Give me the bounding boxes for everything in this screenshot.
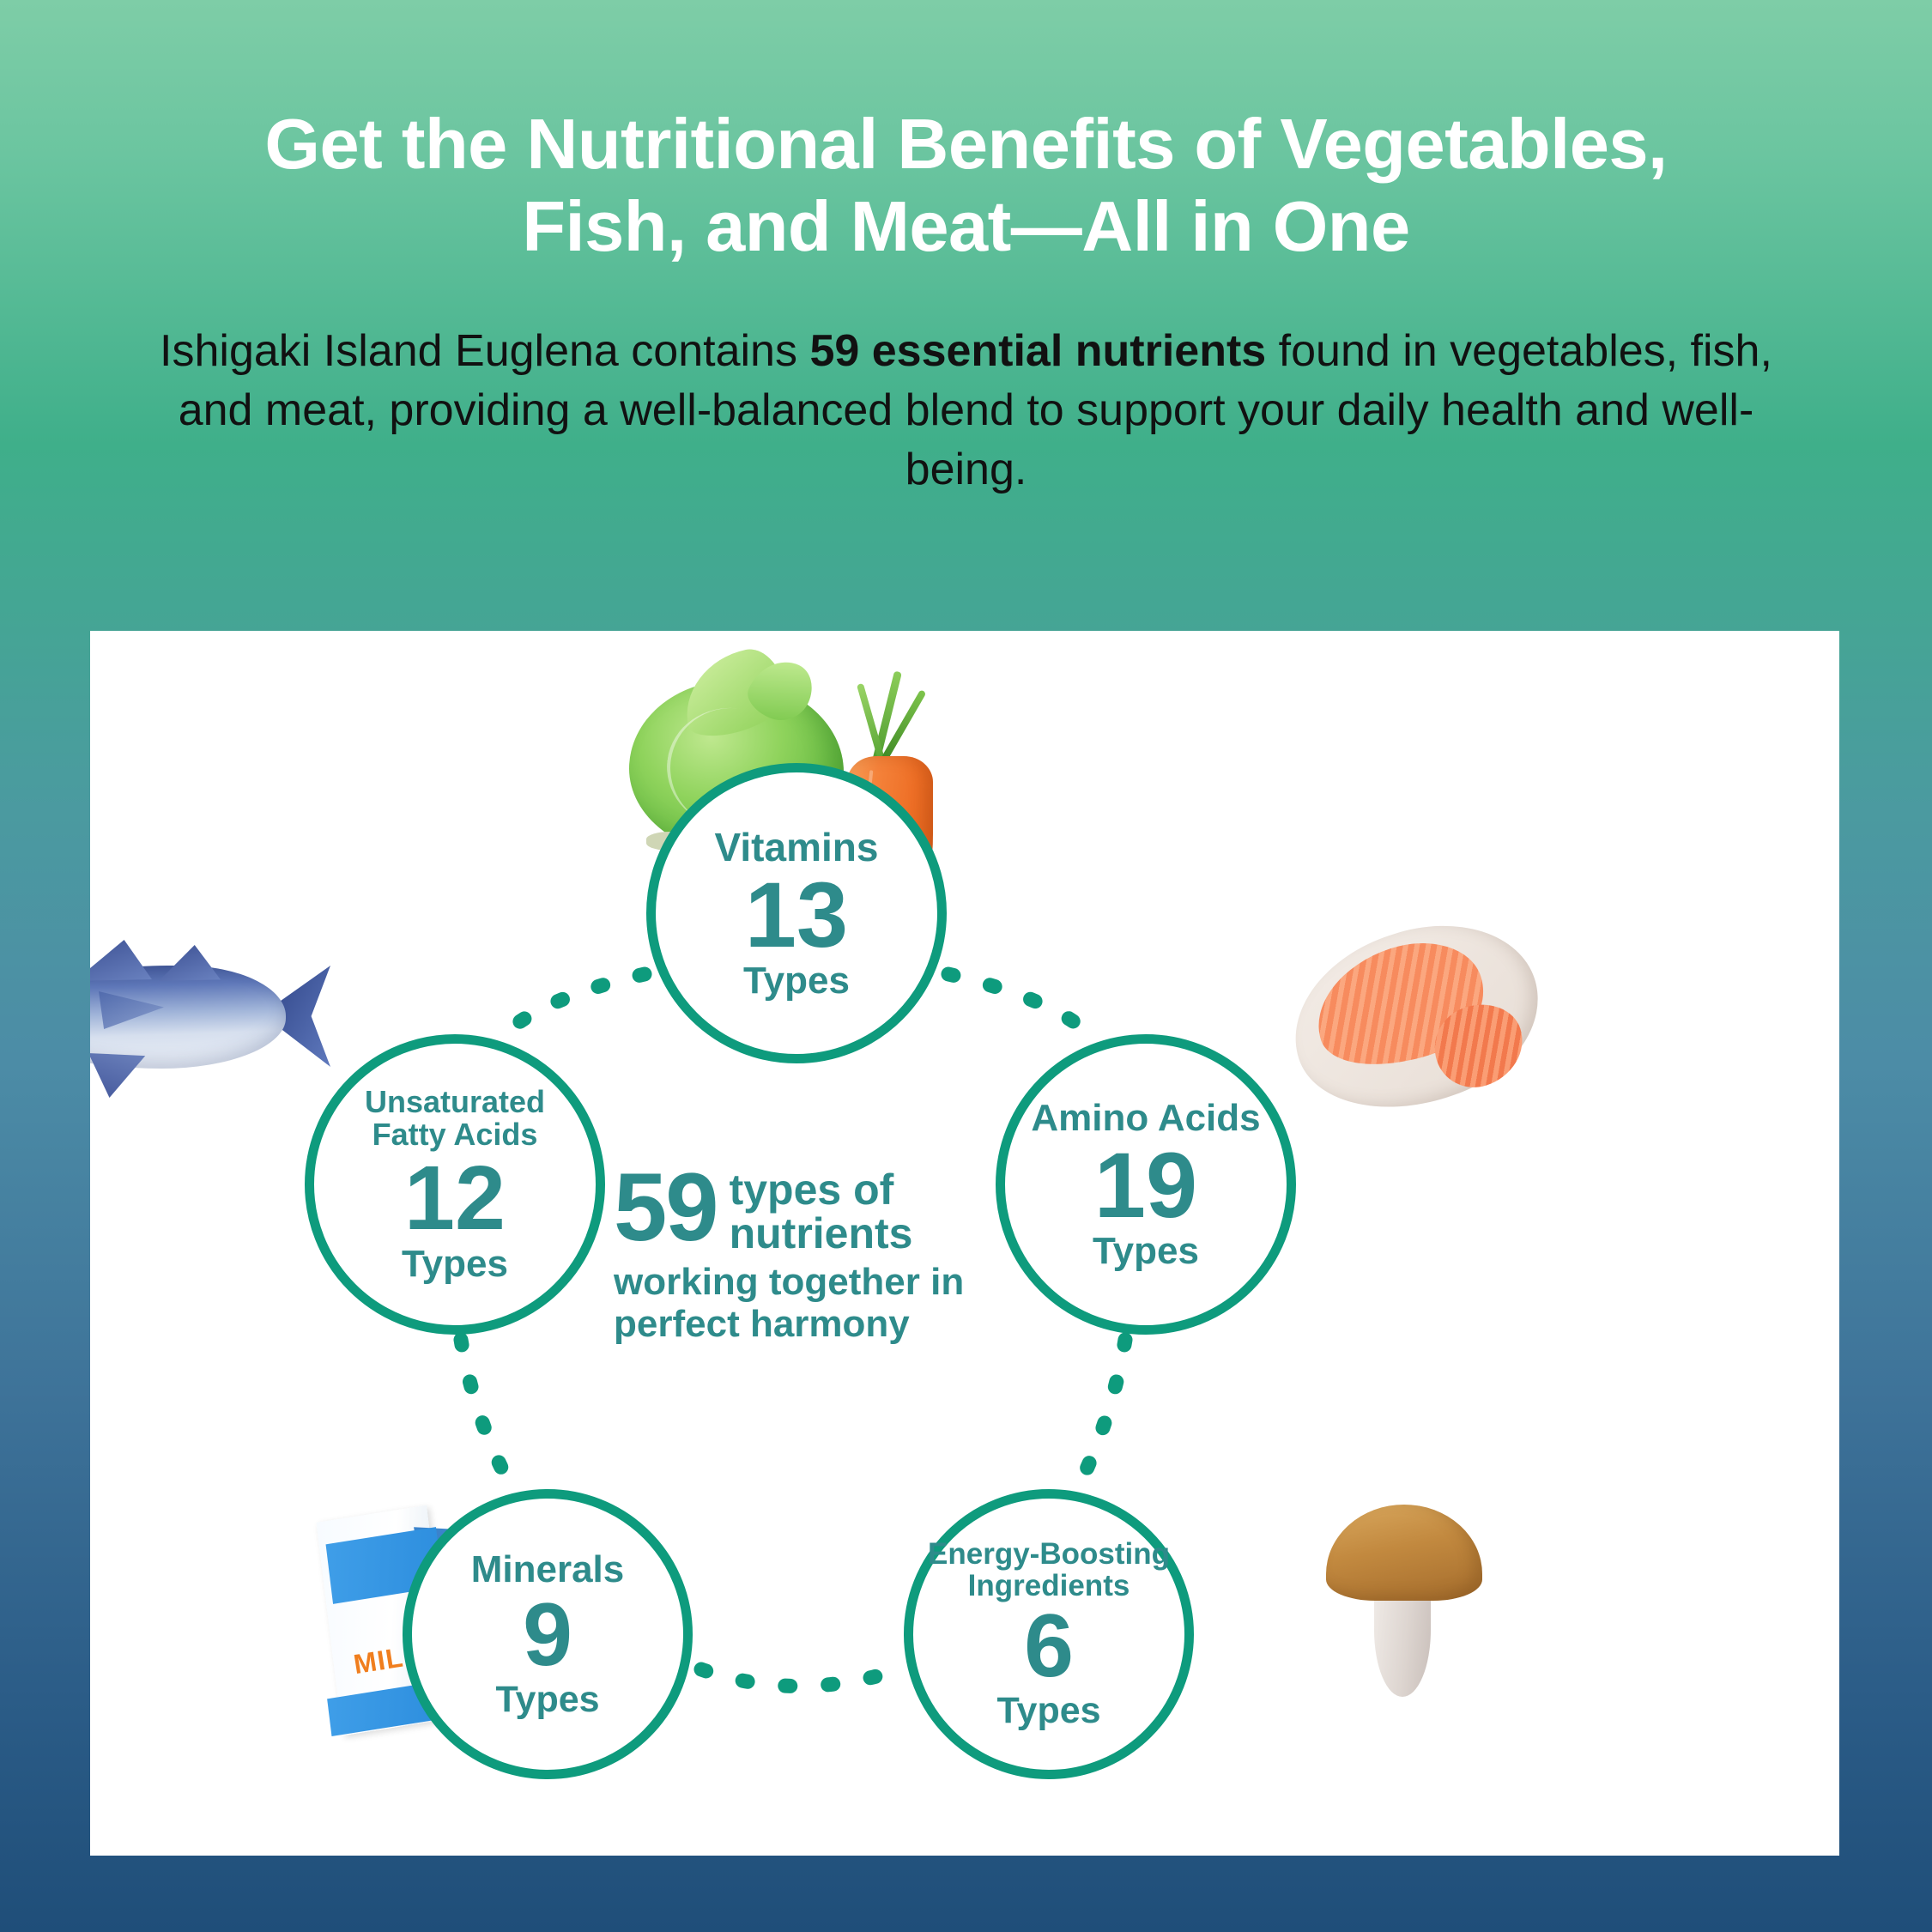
node-minerals-value: 9	[523, 1592, 572, 1680]
node-amino-acids[interactable]: Amino Acids 19 Types	[996, 1034, 1296, 1335]
node-fatty-acids-label-line-1: Unsaturated	[365, 1086, 545, 1118]
connector-minerals-energy	[701, 1669, 895, 1687]
node-vitamins-value: 13	[745, 869, 848, 960]
fish-icon	[90, 931, 348, 1129]
center-summary: 59 types of nutrients working together i…	[614, 1163, 991, 1346]
connector-amino-energy	[1077, 1340, 1125, 1489]
node-energy-value: 6	[1024, 1603, 1074, 1691]
center-line-2: nutrients	[730, 1211, 913, 1256]
connector-vitamins-amino	[948, 974, 1099, 1043]
node-vitamins[interactable]: Vitamins 13 Types	[646, 763, 947, 1063]
nutrient-wheel-diagram: MILK 59 types of nutrients working toget…	[90, 631, 1839, 1856]
page-subtitle: Ishigaki Island Euglena contains 59 esse…	[125, 269, 1808, 500]
node-minerals[interactable]: Minerals 9 Types	[403, 1489, 693, 1779]
page-title-line-2: Fish, and Meat—All in One	[522, 186, 1409, 266]
node-energy-boosting-ingredients[interactable]: Energy-Boosting Ingredients 6 Types	[904, 1489, 1194, 1779]
node-amino-acids-unit: Types	[1093, 1232, 1199, 1270]
connector-fatty-minerals	[461, 1340, 512, 1489]
node-vitamins-unit: Types	[743, 962, 850, 1000]
node-minerals-unit: Types	[495, 1681, 599, 1718]
node-fatty-acids-value: 12	[404, 1154, 506, 1244]
node-minerals-label: Minerals	[471, 1550, 625, 1590]
subtitle-text-leading: Ishigaki Island Euglena contains	[160, 326, 809, 376]
center-line-1: types of	[730, 1168, 913, 1211]
node-unsaturated-fatty-acids[interactable]: Unsaturated Fatty Acids 12 Types	[305, 1034, 605, 1335]
node-vitamins-label: Vitamins	[715, 827, 879, 868]
node-energy-unit: Types	[996, 1693, 1100, 1729]
node-amino-acids-value: 19	[1094, 1140, 1197, 1231]
node-fatty-acids-unit: Types	[402, 1245, 508, 1283]
infographic-card: MILK 59 types of nutrients working toget…	[90, 631, 1839, 1856]
subtitle-highlight: 59 essential nutrients	[809, 326, 1266, 376]
node-energy-label-line-1: Energy-Boosting	[928, 1539, 1170, 1571]
node-fatty-acids-label-line-2: Fatty Acids	[372, 1118, 538, 1151]
page-title: Get the Nutritional Benefits of Vegetabl…	[60, 0, 1872, 269]
meat-steak-icon	[1283, 914, 1549, 1120]
connector-vitamins-fatty	[495, 974, 645, 1043]
page-title-line-1: Get the Nutritional Benefits of Vegetabl…	[264, 104, 1667, 184]
page-header: Get the Nutritional Benefits of Vegetabl…	[0, 0, 1932, 500]
mushroom-icon	[1319, 1499, 1491, 1714]
center-line-3: working together in perfect harmony	[614, 1261, 991, 1346]
center-total-number: 59	[614, 1163, 718, 1251]
